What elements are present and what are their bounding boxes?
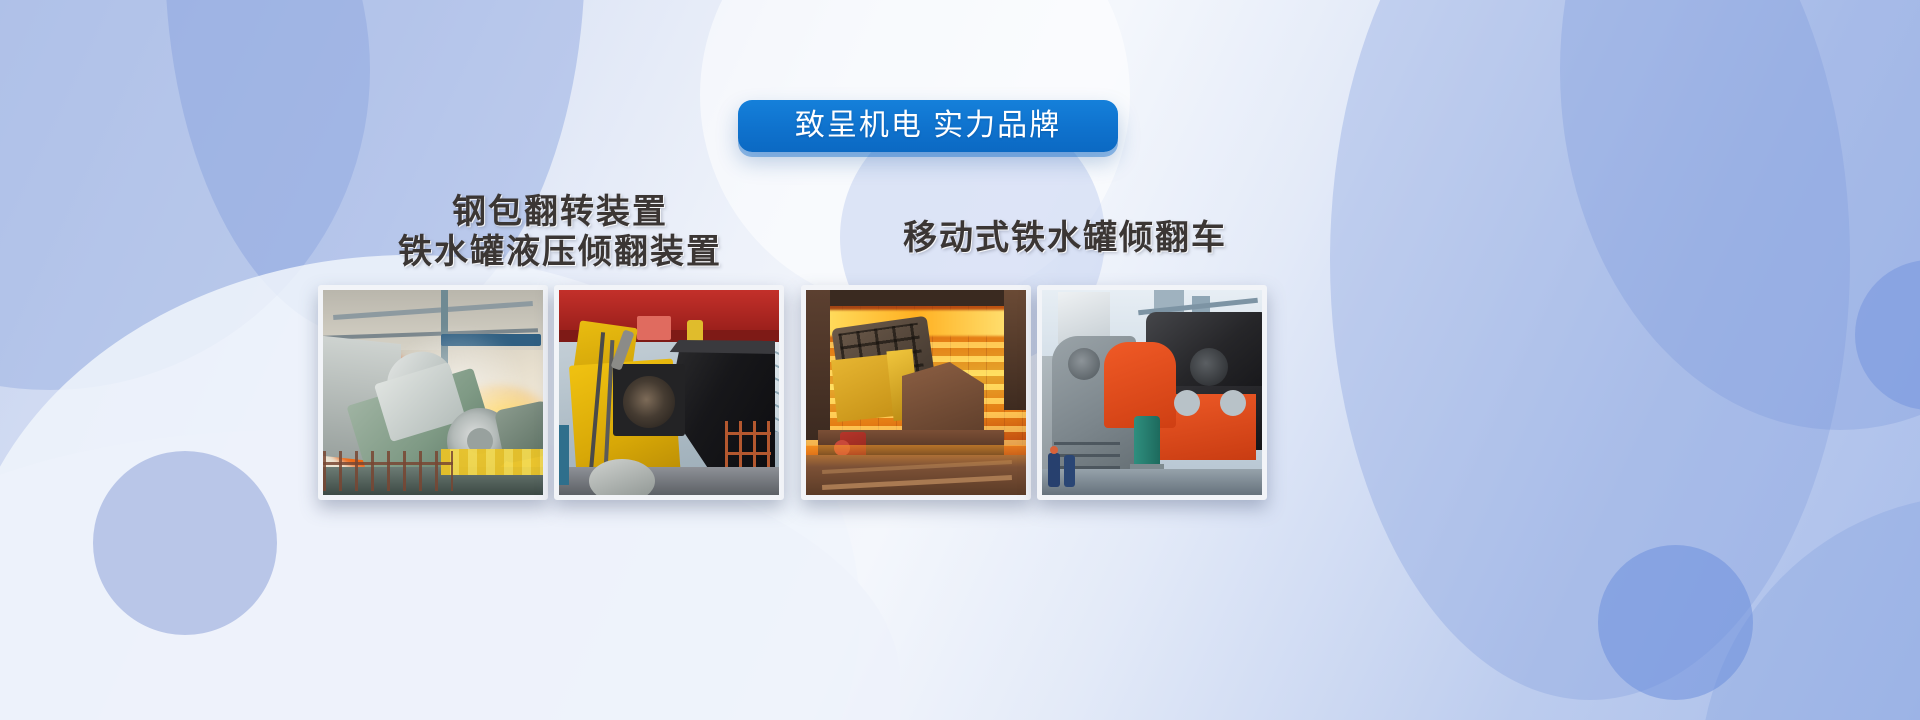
bg-circle-right-large [1560,0,1920,430]
heading-left: 钢包翻转装置 铁水罐液压倾翻装置 [330,192,790,272]
promo-banner: 致呈机电 实力品牌 钢包翻转装置 铁水罐液压倾翻装置 移动式铁水罐倾翻车 [0,0,1920,720]
photo-group-left [318,285,784,500]
heading-left-line1: 钢包翻转装置 [330,192,790,232]
bg-circle-right-small [1855,260,1920,410]
photo-ladle-tilter-green[interactable] [318,285,548,500]
photo-mobile-tilting-car[interactable] [1037,285,1267,500]
photo-tilting-car-furnace[interactable] [801,285,1031,500]
brand-badge: 致呈机电 实力品牌 [738,100,1118,152]
brand-badge-pill: 致呈机电 实力品牌 [738,100,1118,152]
bg-circle-bottom-right-large [1700,495,1920,720]
bg-ellipse-right [1330,0,1850,700]
heading-left-line2: 铁水罐液压倾翻装置 [330,232,790,272]
photo-hydraulic-tilter-yellow[interactable] [554,285,784,500]
brand-badge-label: 致呈机电 实力品牌 [795,111,1061,141]
heading-right: 移动式铁水罐倾翻车 [835,218,1295,258]
bg-circle-bottom-right-small [1598,545,1753,700]
heading-right-line1: 移动式铁水罐倾翻车 [903,219,1227,257]
bg-circle-left-solid [93,451,277,635]
photo-group-right [801,285,1267,500]
bg-circle-top-left-large [0,0,370,390]
